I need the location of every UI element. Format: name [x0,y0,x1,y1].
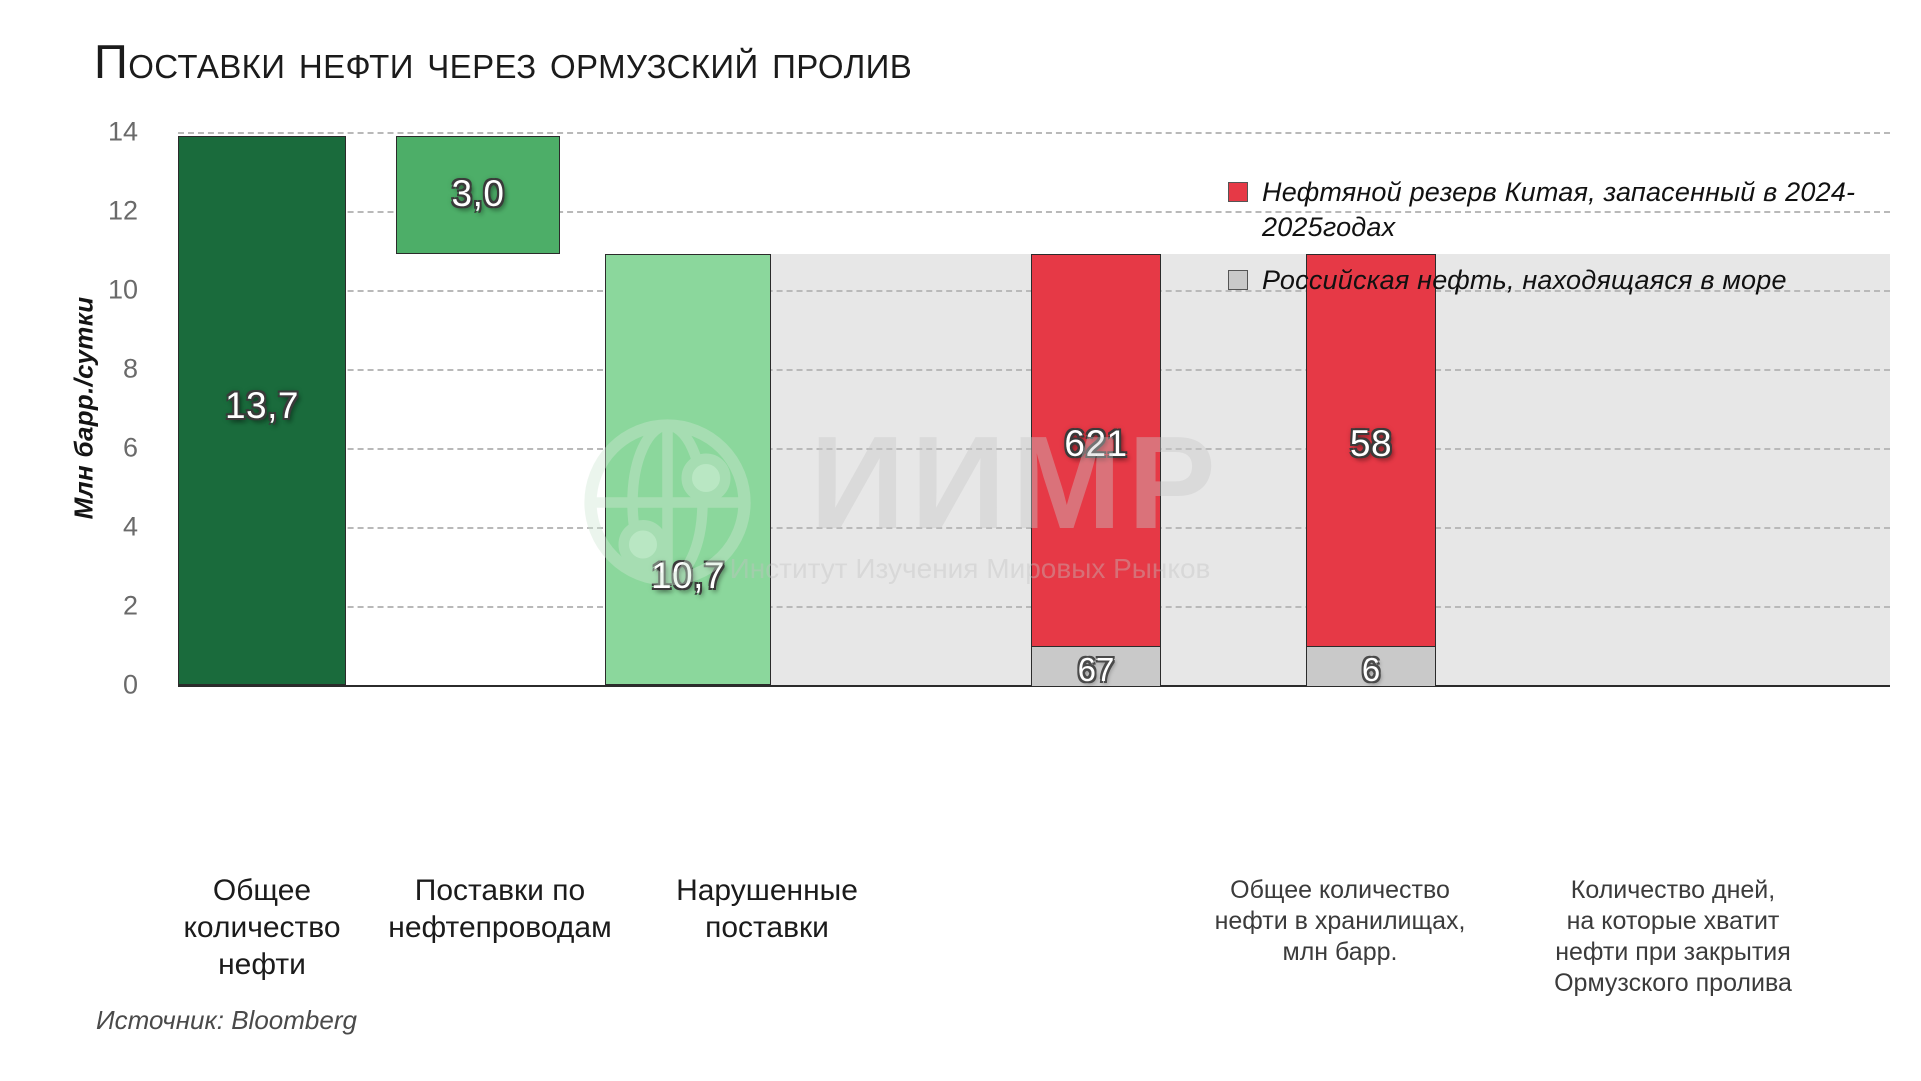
bar-segment-sea-oil: 67 [1032,646,1160,686]
chart-canvas: Поставки нефти через Ормузский пролив Мл… [0,0,1921,1081]
y-axis-tick-label: 6 [78,433,138,464]
legend-swatch-red [1228,182,1248,202]
bar-segment-value-label: 67 [1032,651,1160,689]
page-title: Поставки нефти через Ормузский пролив [94,34,912,89]
bar-segment-value-label: 58 [1307,423,1435,465]
y-axis-tick-label: 8 [78,354,138,385]
bar-value-label: 3,0 [397,173,559,215]
bar-value-label: 13,7 [179,385,345,427]
source-note: Источник: Bloomberg [96,1005,357,1036]
legend-item-label: Российская нефть, находящаяся в море [1262,263,1787,298]
gridline [178,132,1890,134]
bar-segment-value-label: 621 [1032,423,1160,465]
bar-1: 13,7 [178,136,346,685]
y-axis-tick-label: 12 [78,196,138,227]
x-axis-category-label-3: Нарушенные поставки [642,872,892,946]
x-axis-category-label-4: Общее количество нефти в хранилищах, млн… [1195,875,1485,968]
bar-2: 3,0 [396,136,560,255]
y-axis-tick-label: 2 [78,591,138,622]
y-axis-tick-label: 14 [78,117,138,148]
bar-5: 586 [1306,254,1436,685]
y-axis-tick-label: 0 [78,670,138,701]
legend-item-1[interactable]: Нефтяной резерв Китая, запасенный в 2024… [1228,175,1868,245]
legend-swatch-grey [1228,270,1248,290]
x-axis-category-label-1: Общее количество нефти [178,872,346,984]
legend: Нефтяной резерв Китая, запасенный в 2024… [1228,175,1868,316]
bar-value-label: 10,7 [606,555,770,597]
bar-segment-sea-oil: 6 [1307,646,1435,686]
y-axis-title: Млн барр./сутки [69,297,100,520]
y-axis-tick-label: 10 [78,275,138,306]
bar-4: 62167 [1031,254,1161,685]
y-axis-tick-label: 4 [78,512,138,543]
x-axis-category-label-5: Количество дней, на которые хватит нефти… [1528,875,1818,999]
legend-item-2[interactable]: Российская нефть, находящаяся в море [1228,263,1868,298]
bar-3: 10,7 [605,254,771,685]
x-axis-category-label-2: Поставки по нефтепроводам [370,872,630,946]
bar-segment-value-label: 6 [1307,651,1435,689]
legend-item-label: Нефтяной резерв Китая, запасенный в 2024… [1262,175,1868,245]
bar-segment-reserve: 621 [1032,255,1160,646]
